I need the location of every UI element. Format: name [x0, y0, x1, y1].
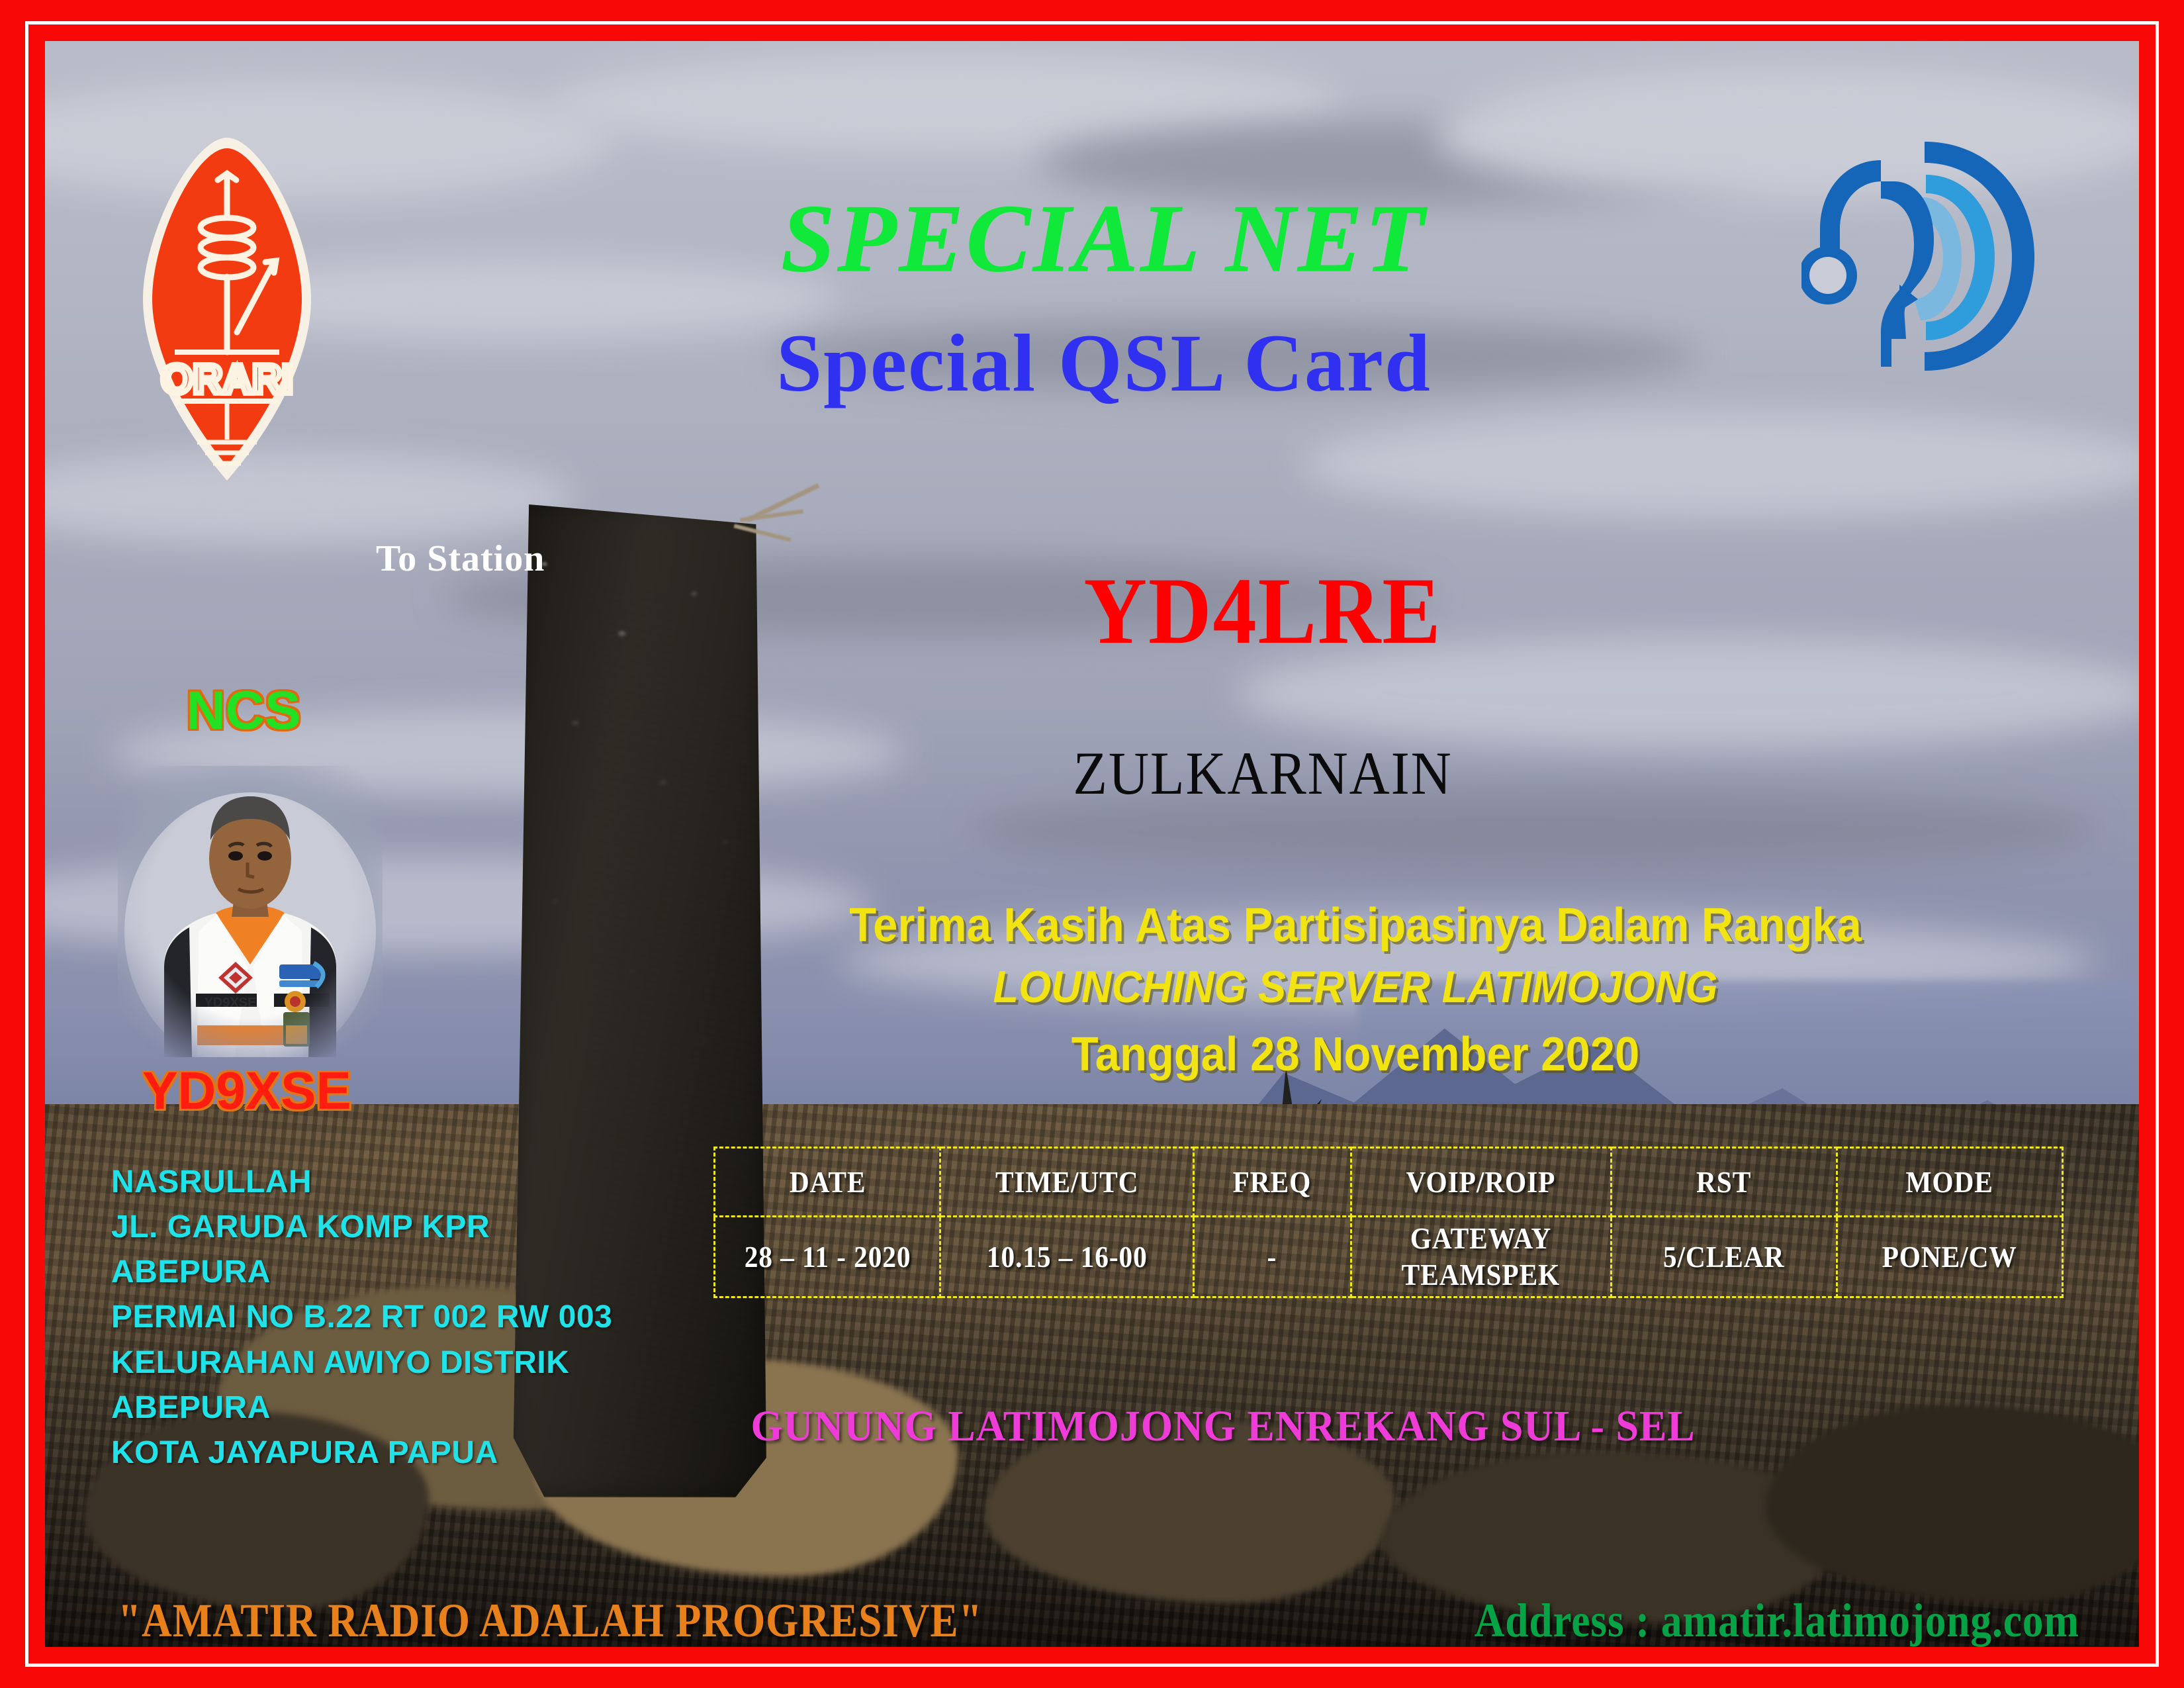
- column-header-mode: MODE: [1848, 1148, 2051, 1217]
- qso-log-table: DATE TIME/UTC FREQ VOIP/ROIP RST MODE 28…: [713, 1147, 2064, 1298]
- column-header-freq: FREQ: [1201, 1148, 1343, 1217]
- thanks-line-2: LOUNCHING SERVER LATIMOJONG: [678, 961, 2032, 1013]
- card-background-photo: ORARI SPECIAL NET Special QSL Card To St…: [45, 41, 2139, 1647]
- web-address: Address : amatir.latimojong.com: [1475, 1593, 2079, 1647]
- svg-text:ORARI: ORARI: [161, 357, 293, 402]
- cell-rst: 5/CLEAR: [1622, 1217, 1825, 1297]
- column-header-rst: RST: [1622, 1148, 1825, 1217]
- cell-voip-roip: GATEWAY TEAMSPEK: [1364, 1217, 1598, 1297]
- destination-callsign: YD4LRE: [861, 564, 1664, 659]
- uniform-callsign-badge: YD9XSE: [205, 996, 257, 1010]
- operator-name: ZULKARNAIN: [861, 743, 1664, 804]
- ncs-operator-portrait: YD9XSE: [118, 766, 383, 1057]
- ncs-callsign: YD9XSE: [105, 1060, 389, 1121]
- address-line: ABEPURA: [111, 1250, 612, 1295]
- qsl-card: ORARI SPECIAL NET Special QSL Card To St…: [0, 0, 2184, 1688]
- sender-address: NASRULLAH JL. GARUDA KOMP KPR ABEPURA PE…: [111, 1160, 612, 1476]
- orari-diamond-logo: ORARI: [131, 134, 323, 485]
- cell-freq: -: [1201, 1217, 1343, 1297]
- address-line: KOTA JAYAPURA PAPUA: [111, 1430, 612, 1476]
- address-line: PERMAI NO B.22 RT 002 RW 003: [111, 1295, 612, 1340]
- column-header-date: DATE: [726, 1148, 929, 1217]
- address-line: JL. GARUDA KOMP KPR: [111, 1205, 612, 1250]
- radio-headphones-profile-logo: [1801, 134, 2040, 379]
- ncs-label: NCS: [124, 680, 363, 742]
- mountain-caption: GUNUNG LATIMOJONG ENREKANG SUL - SEL: [601, 1401, 1845, 1452]
- cell-mode: PONE/CW: [1848, 1217, 2051, 1297]
- page-subtitle: Special QSL Card: [508, 322, 1700, 404]
- address-line: ABEPURA: [111, 1385, 612, 1430]
- page-title: SPECIAL NET: [508, 190, 1700, 287]
- address-line: NASRULLAH: [111, 1160, 612, 1205]
- column-header-voip-roip: VOIP/ROIP: [1364, 1148, 1598, 1217]
- thanks-line-3: Tanggal 28 November 2020: [678, 1027, 2032, 1082]
- column-header-time: TIME/UTC: [953, 1148, 1181, 1217]
- table-header-row: DATE TIME/UTC FREQ VOIP/ROIP RST MODE: [715, 1148, 2063, 1217]
- cell-date: 28 – 11 - 2020: [726, 1217, 929, 1297]
- thanks-line-1: Terima Kasih Atas Partisipasinya Dalam R…: [678, 898, 2032, 953]
- club-motto: "AMATIR RADIO ADALAH PROGRESIVE": [118, 1593, 983, 1647]
- cell-time: 10.15 – 16-00: [953, 1217, 1181, 1297]
- address-line: KELURAHAN AWIYO DISTRIK: [111, 1340, 612, 1385]
- table-row: 28 – 11 - 2020 10.15 – 16-00 - GATEWAY T…: [715, 1217, 2063, 1297]
- to-station-label: To Station: [376, 538, 545, 580]
